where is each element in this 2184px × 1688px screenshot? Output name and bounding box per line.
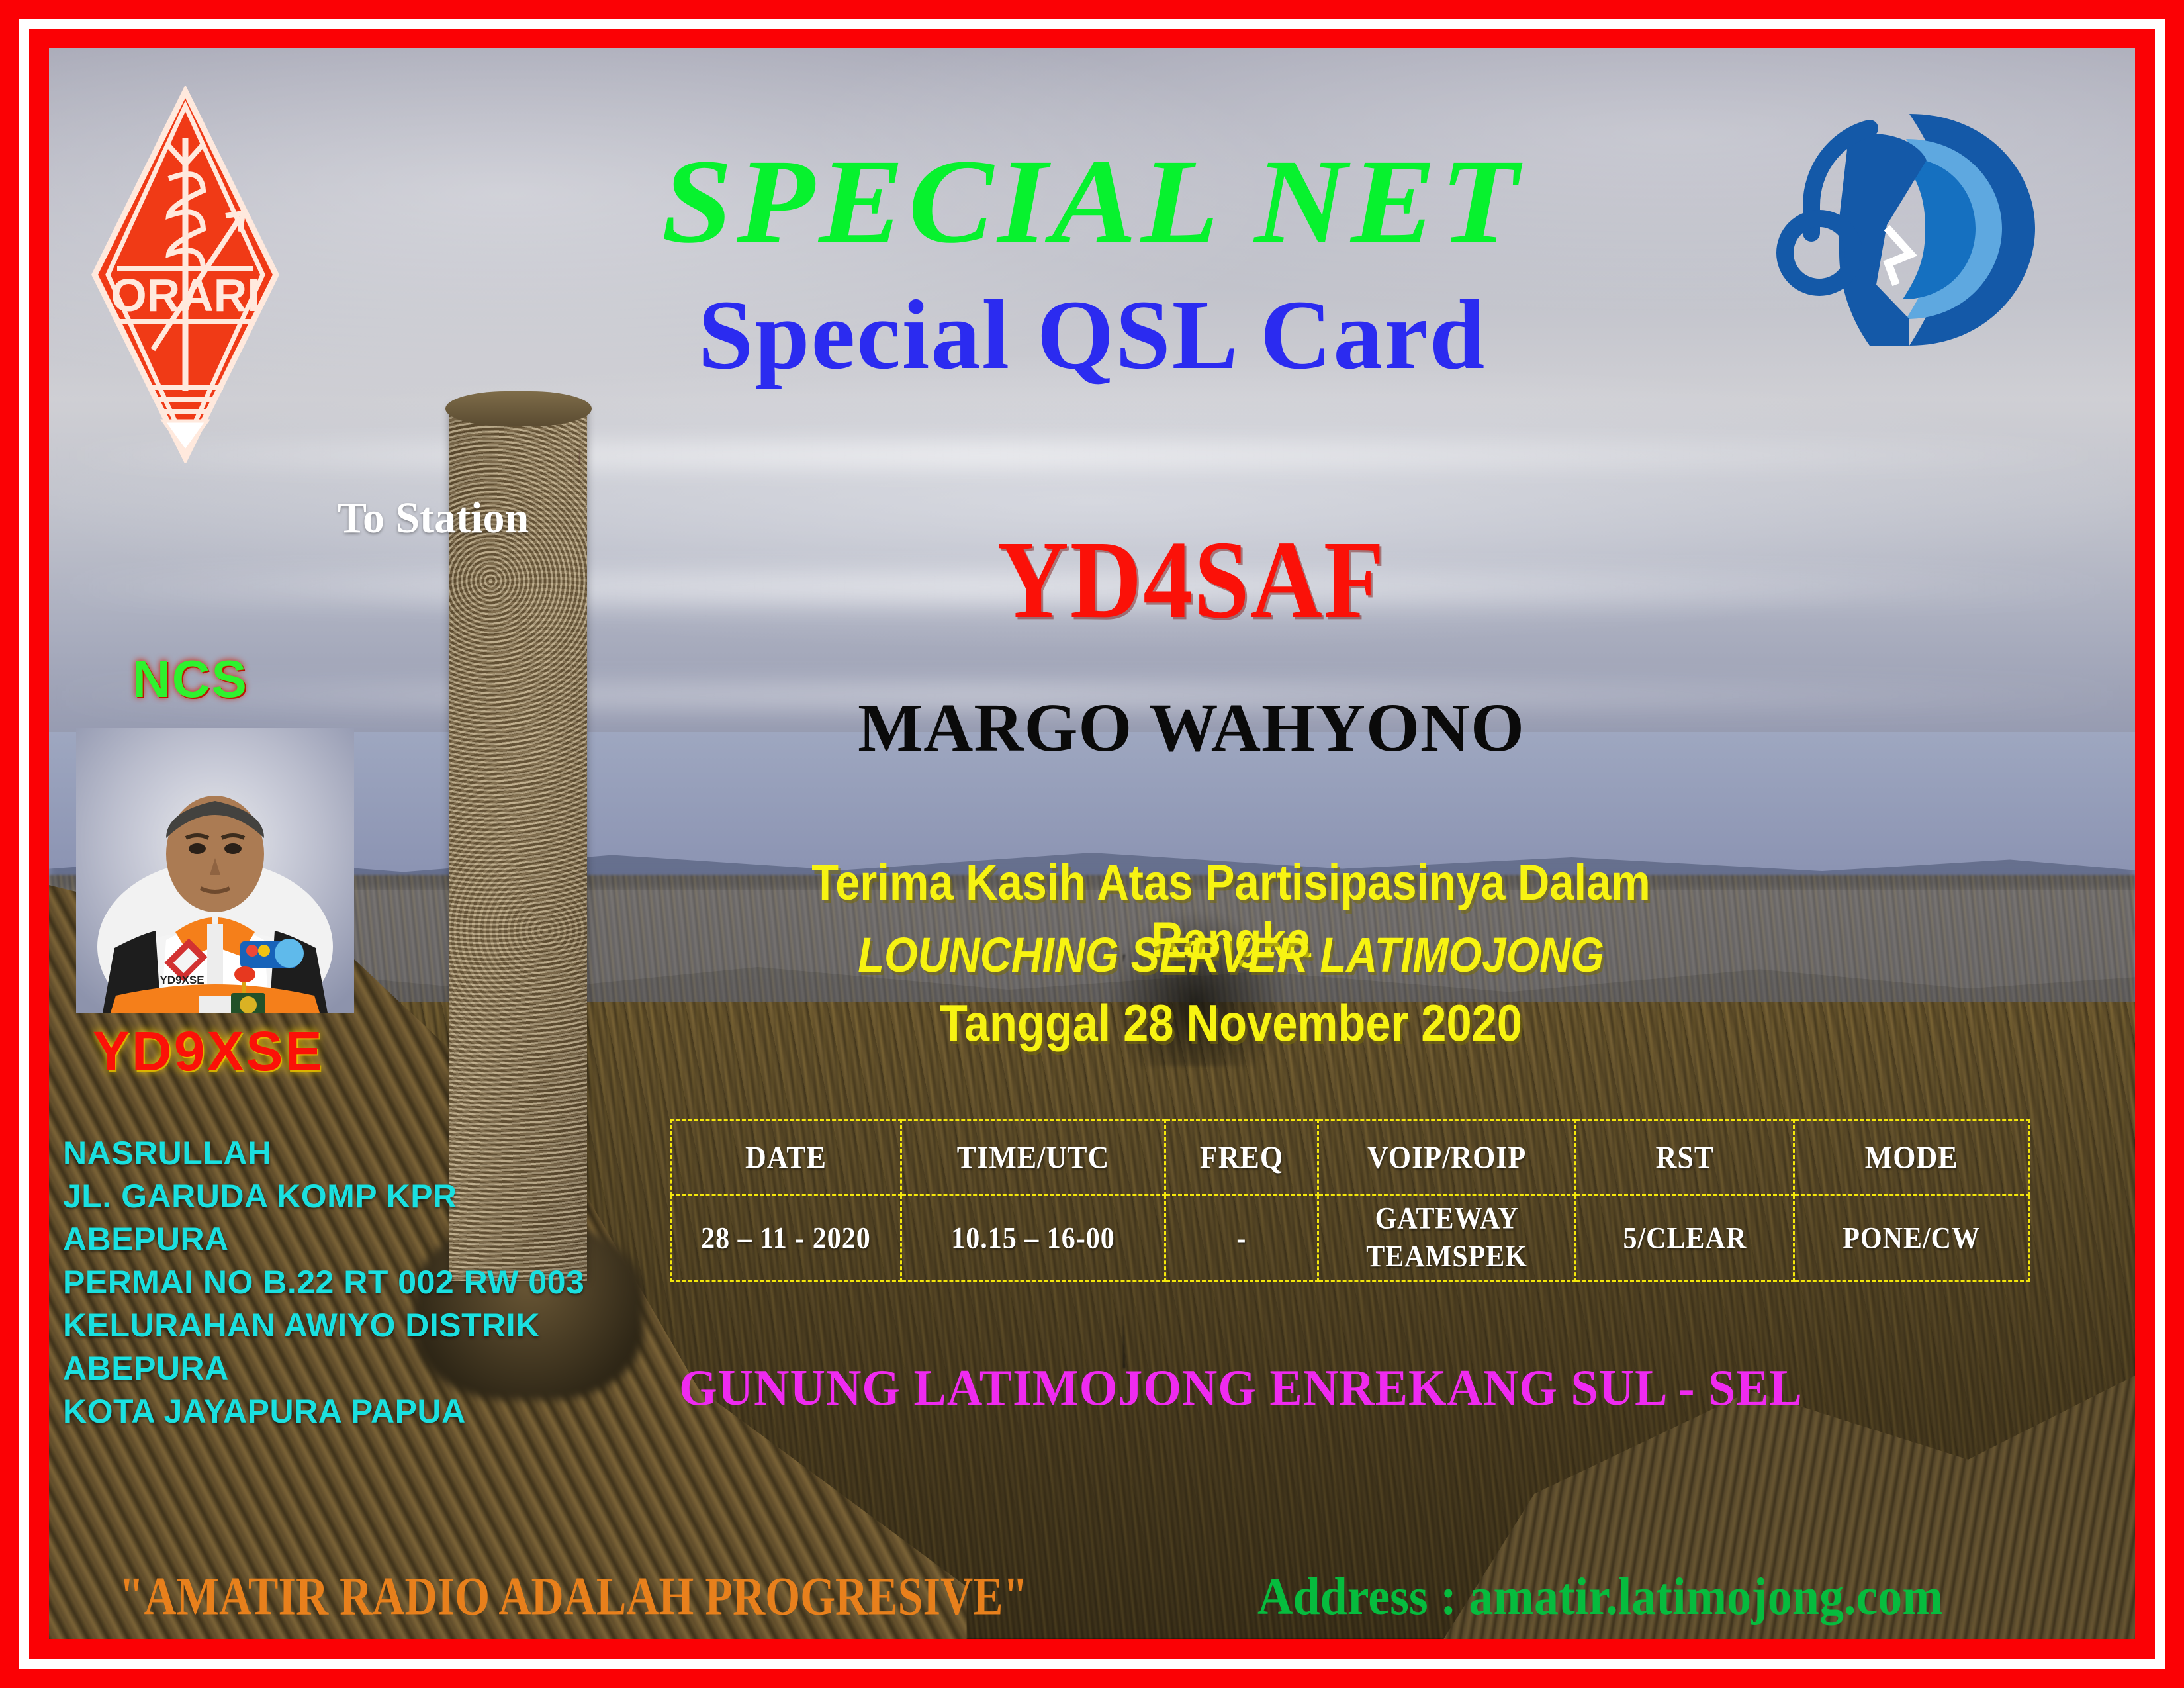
address-line: ABEPURA: [63, 1347, 584, 1390]
cell-voip-roip: GATEWAY TEAMSPEK: [1318, 1190, 1576, 1286]
address-line: ABEPURA: [63, 1218, 584, 1261]
thanks-line-2: LOUNCHING SERVER LATIMOJONG: [782, 927, 1679, 983]
column-header-date: DATE: [671, 1116, 901, 1198]
thanks-line-3: Tanggal 28 November 2020: [782, 993, 1679, 1053]
cell-voip-roip-line1: GATEWAY: [1319, 1201, 1575, 1238]
table-row: 28 – 11 - 2020 10.15 – 16-00 - GATEWAY T…: [671, 1195, 2029, 1282]
shirt-callsign-label: YD9XSE: [159, 974, 204, 986]
location-text: GUNUNG LATIMOJONG ENREKANG SUL - SEL: [596, 1359, 1886, 1418]
address-line: KELURAHAN AWIYO DISTRIK: [63, 1304, 584, 1347]
title-special-qsl-card: Special QSL Card: [0, 278, 2184, 392]
cell-voip-roip-line2: TEAMSPEK: [1319, 1238, 1575, 1275]
cell-date: 28 – 11 - 2020: [671, 1190, 901, 1286]
address-line: PERMAI NO B.22 RT 002 RW 003: [63, 1261, 584, 1304]
qsl-card: ORARI SPECIAL NET Special QSL Card To St…: [0, 0, 2184, 1688]
ncs-callsign: YD9XSE: [93, 1019, 324, 1084]
address-line: KOTA JAYAPURA PAPUA: [63, 1390, 584, 1433]
column-header-rst: RST: [1576, 1116, 1794, 1198]
column-header-voip-roip: VOIP/ROIP: [1318, 1116, 1576, 1198]
to-station-label: To Station: [338, 493, 529, 543]
footer-address: Address : amatir.latimojong.com: [1257, 1567, 1943, 1628]
address-line: NASRULLAH: [63, 1132, 584, 1175]
cell-rst: 5/CLEAR: [1576, 1190, 1794, 1286]
cell-freq: -: [1165, 1190, 1318, 1286]
footer-slogan: "AMATIR RADIO ADALAH PROGRESIVE": [119, 1566, 1028, 1628]
station-callsign: YD4SAF: [827, 516, 1555, 644]
column-header-time: TIME/UTC: [901, 1116, 1165, 1198]
column-header-freq: FREQ: [1165, 1116, 1318, 1198]
qso-log-table: DATE TIME/UTC FREQ VOIP/ROIP RST MODE 28…: [670, 1119, 2030, 1282]
table-header-row: DATE TIME/UTC FREQ VOIP/ROIP RST MODE: [671, 1120, 2029, 1195]
title-special-net: SPECIAL NET: [0, 132, 2184, 271]
address-line: JL. GARUDA KOMP KPR: [63, 1175, 584, 1218]
ncs-operator-photo: YD9XSE: [76, 728, 354, 1013]
operator-name: MARGO WAHYONO: [781, 688, 1602, 767]
cell-time: 10.15 – 16-00: [901, 1190, 1165, 1286]
ncs-badge: NCS: [132, 649, 248, 710]
column-header-mode: MODE: [1794, 1116, 2029, 1198]
cell-mode: PONE/CW: [1794, 1190, 2029, 1286]
station-address-block: NASRULLAH JL. GARUDA KOMP KPR ABEPURA PE…: [63, 1132, 584, 1433]
